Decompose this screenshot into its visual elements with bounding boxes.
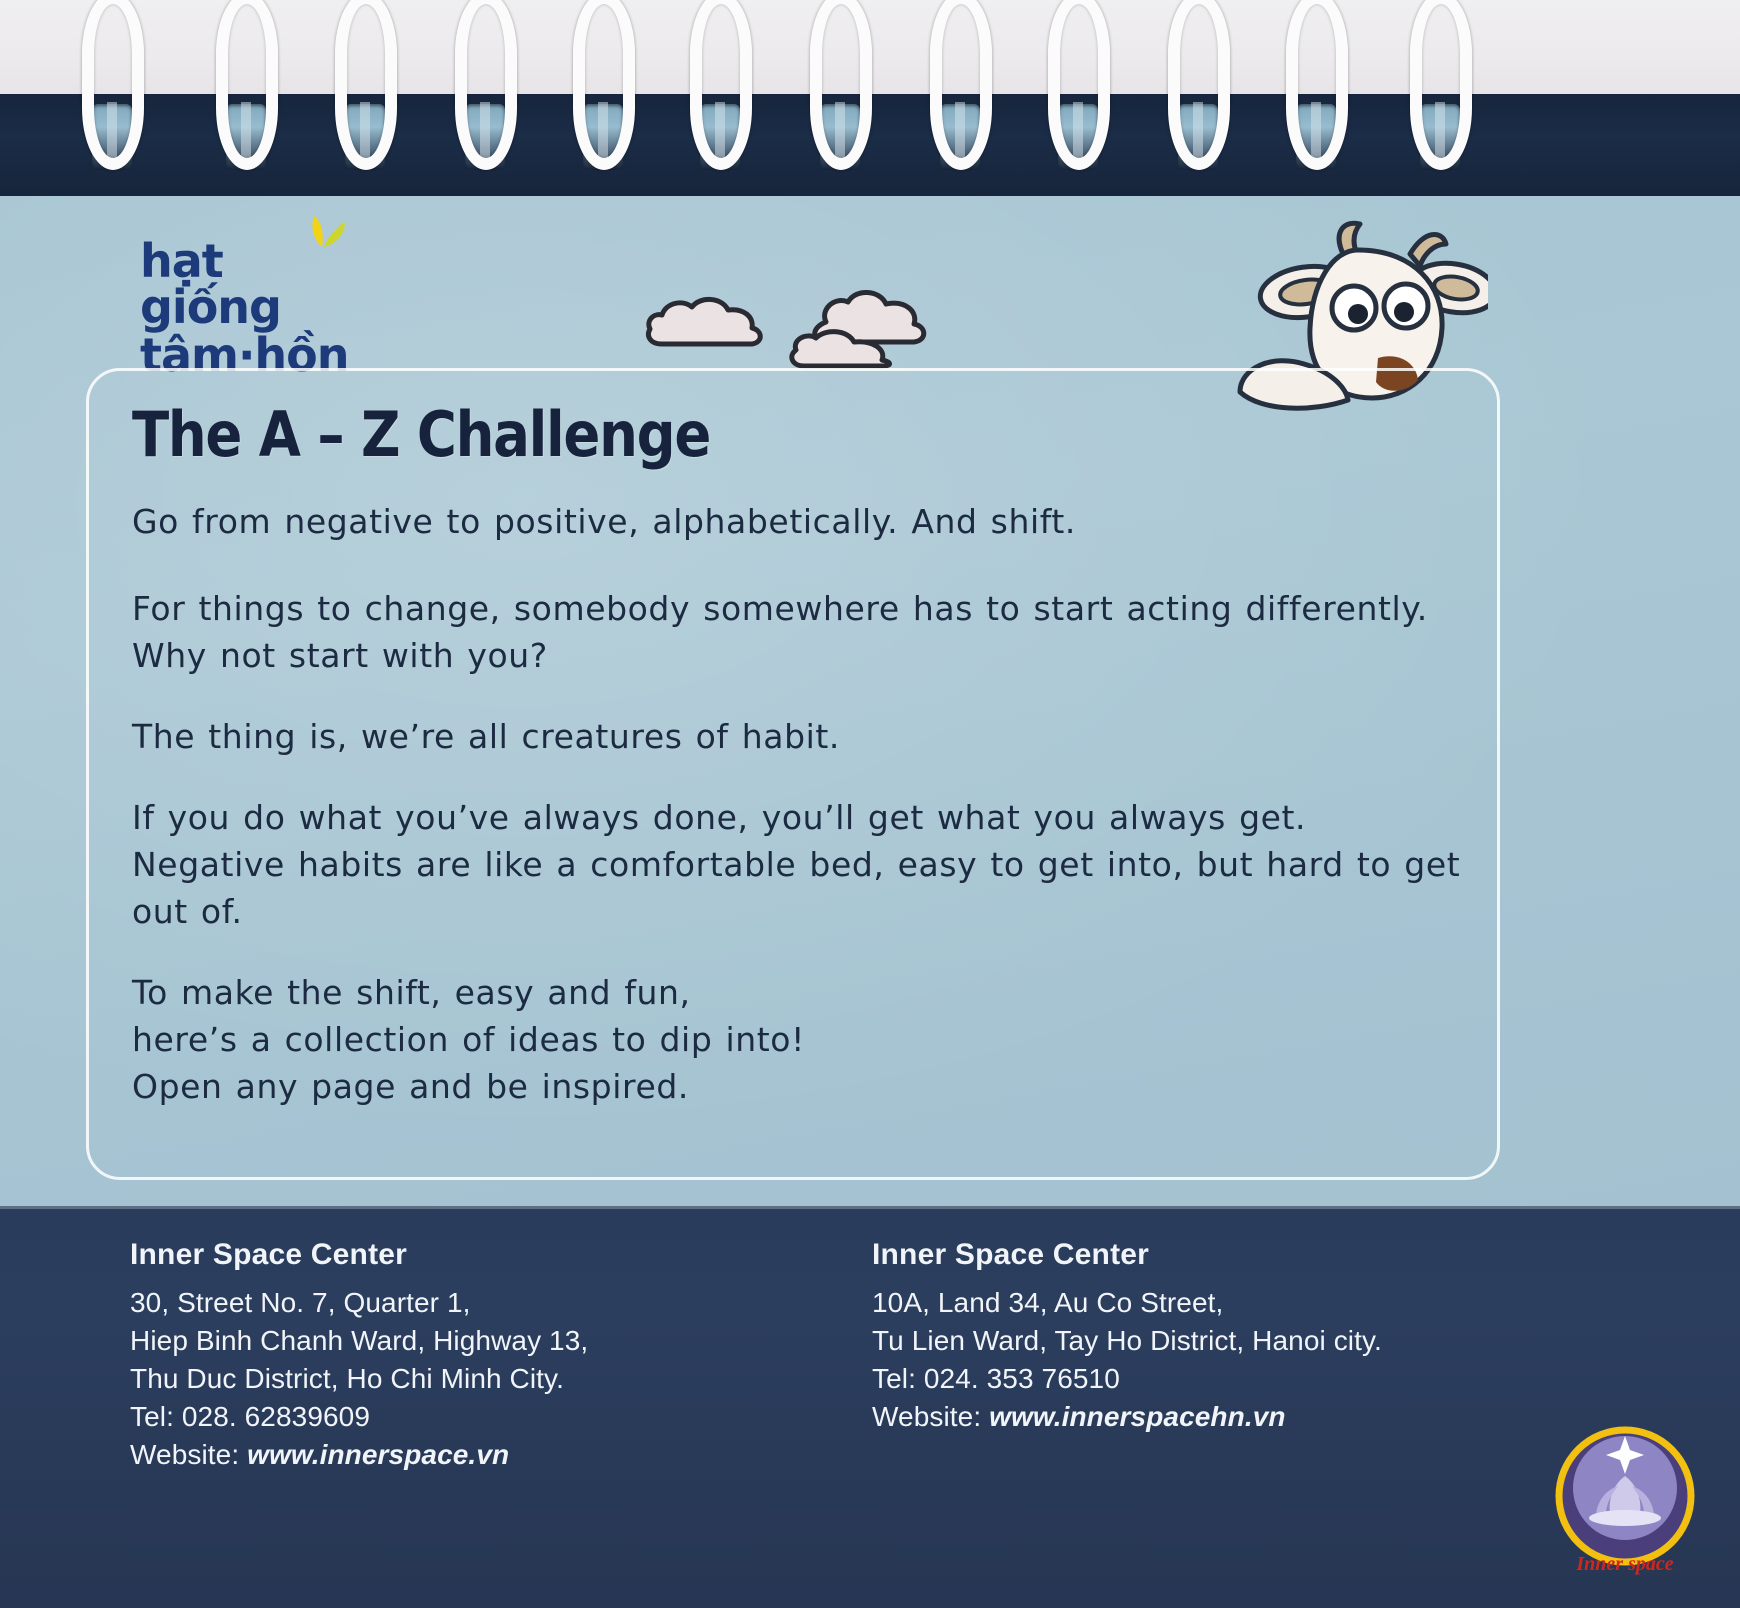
footer-telephone: Tel: 024. 353 76510 — [872, 1360, 1382, 1398]
card-lead: Go from negative to positive, alphabetic… — [132, 498, 1462, 545]
footer-website-url[interactable]: www.innerspacehn.vn — [989, 1401, 1286, 1432]
card-copy: Go from negative to positive, alphabetic… — [132, 498, 1462, 1110]
brand-logo-line1: hạt giống — [140, 238, 370, 330]
footer-heading: Inner Space Center — [130, 1238, 588, 1272]
spiral-binding-coil-icon — [1286, 0, 1348, 170]
footer-website-label: Website: — [130, 1439, 247, 1470]
spiral-binding-coil-icon — [930, 0, 992, 170]
spiral-binding-coil-icon — [690, 0, 752, 170]
brand-logo: hạt giống tâm·hồn — [140, 238, 370, 378]
footer-website-label: Website: — [872, 1401, 989, 1432]
spiral-binding-coil-icon — [82, 0, 144, 170]
cloud-icon — [644, 288, 774, 350]
footer-address-line: Thu Duc District, Ho Chi Minh City. — [130, 1360, 588, 1398]
card-paragraph: The thing is, we’re all creatures of hab… — [132, 713, 1462, 760]
footer-address-line: Hiep Binh Chanh Ward, Highway 13, — [130, 1322, 588, 1360]
footer-column-hcmc: Inner Space Center 30, Street No. 7, Qua… — [130, 1238, 588, 1474]
brand-logo-line2: tâm·hồn — [140, 332, 370, 378]
spiral-binding-coil-icon — [455, 0, 517, 170]
card-paragraph: To make the shift, easy and fun,here’s a… — [132, 969, 1462, 1110]
spiral-binding-coil-icon — [810, 0, 872, 170]
footer-address-line: Tu Lien Ward, Tay Ho District, Hanoi cit… — [872, 1322, 1382, 1360]
footer-tel-label: Tel: — [872, 1363, 924, 1394]
spiral-binding-coil-icon — [335, 0, 397, 170]
footer-telephone: Tel: 028. 62839609 — [130, 1398, 588, 1436]
spiral-binding — [0, 0, 1740, 200]
footer-tel-label: Tel: — [130, 1401, 182, 1432]
cloud-icon — [786, 282, 942, 372]
footer-column-hanoi: Inner Space Center 10A, Land 34, Au Co S… — [872, 1238, 1382, 1436]
spiral-binding-coil-icon — [1048, 0, 1110, 170]
footer-tel-value: 028. 62839609 — [182, 1401, 370, 1432]
footer-address-line: 10A, Land 34, Au Co Street, — [872, 1284, 1382, 1322]
cartoon-cow-head-icon — [1228, 216, 1488, 428]
footer-website-url[interactable]: www.innerspace.vn — [247, 1439, 509, 1470]
svg-text:Inner space: Inner space — [1575, 1553, 1673, 1575]
card-paragraph: If you do what you’ve always done, you’l… — [132, 794, 1462, 935]
spiral-binding-coil-icon — [1168, 0, 1230, 170]
page-title: The A – Z Challenge — [132, 402, 710, 468]
footer-tel-value: 024. 353 76510 — [924, 1363, 1120, 1394]
card-paragraph: For things to change, somebody somewhere… — [132, 585, 1462, 679]
inner-space-lotus-badge-icon: Inner space — [1540, 1418, 1710, 1593]
spiral-binding-coil-icon — [1410, 0, 1472, 170]
footer-heading: Inner Space Center — [872, 1238, 1382, 1272]
calendar-page: hạt giống tâm·hồn — [0, 0, 1740, 1608]
footer-address-line: 30, Street No. 7, Quarter 1, — [130, 1284, 588, 1322]
footer-website: Website: www.innerspacehn.vn — [872, 1398, 1382, 1436]
spiral-binding-coil-icon — [573, 0, 635, 170]
two-leaf-sprout-icon — [302, 214, 346, 248]
spiral-binding-coil-icon — [216, 0, 278, 170]
footer-website: Website: www.innerspace.vn — [130, 1436, 588, 1474]
